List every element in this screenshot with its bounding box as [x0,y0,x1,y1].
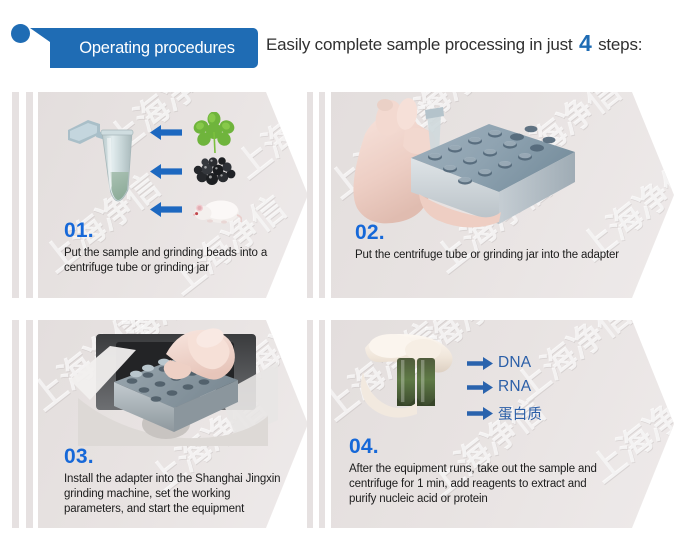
banner-body: Operating procedures [56,28,258,68]
right-arrow-icon [467,381,493,394]
tagline-step-count: 4 [577,30,594,56]
card-panel: 上海净信 上海净信 上海净信 上海净信 [38,320,308,528]
output-label: DNA [498,354,531,372]
step-card-02: 上海净信 上海净信 上海净信 上海净信 上海净信 [307,92,674,298]
right-arrow-icon [467,357,493,370]
output-label: RNA [498,378,531,396]
step-card-01: 上海净信 上海净信 上海净信 上海净信 [12,92,308,298]
card-accent-bars [12,92,38,298]
step-text-block: 03. Install the adapter into the Shangha… [64,446,290,518]
step-description: Put the sample and grinding beads into a… [64,246,288,276]
tagline-before: Easily complete sample processing in jus… [266,35,572,54]
grinding-beads-icon [192,155,238,187]
card-panel: 上海净信 上海净信 上海净信 上海净信 上海净信 [331,320,674,528]
hand-installing-adapter-in-machine-photo [70,328,278,446]
left-arrow-icon [150,125,182,140]
plant-leaf-icon [193,112,235,154]
step-text-block: 01. Put the sample and grinding beads in… [64,220,288,276]
output-row-protein: 蛋白质 [467,403,542,424]
accent-bar [319,320,325,528]
right-arrow-icon [467,407,493,420]
step-number: 02. [355,222,635,244]
bullet-dot-icon [11,24,30,43]
card-accent-bars [307,92,333,298]
accent-bar [26,92,33,298]
left-arrow-icon [150,164,182,179]
banner-label: Operating procedures [79,39,235,58]
step-description: After the equipment runs, take out the s… [349,462,599,508]
left-arrow-icon [150,202,182,217]
step-description: Put the centrifuge tube or grinding jar … [355,248,635,263]
accent-bar [307,320,313,528]
centrifuge-tube-icon [66,114,138,220]
page-tagline: Easily complete sample processing in jus… [266,30,642,57]
card-accent-bars [12,320,38,528]
accent-bar [319,92,325,298]
step-number: 01. [64,220,288,242]
card-panel: 上海净信 上海净信 上海净信 上海净信 [38,92,308,298]
step-text-block: 04. After the equipment runs, take out t… [349,436,599,508]
step-card-04: 上海净信 上海净信 上海净信 上海净信 上海净信 [307,320,674,528]
accent-bar [12,320,19,528]
accent-bar [26,320,33,528]
accent-bar [12,92,19,298]
step-text-block: 02. Put the centrifuge tube or grinding … [355,222,635,263]
gloved-hand-holding-tubes-photo [361,332,481,422]
hand-holding-adapter-block-photo [349,96,579,228]
output-row-dna: DNA [467,354,531,372]
operating-procedures-banner: Operating procedures [30,28,258,68]
accent-bar [307,92,313,298]
card-accent-bars [307,320,333,528]
tagline-after: steps: [598,35,642,54]
output-label: 蛋白质 [498,403,542,424]
step-description: Install the adapter into the Shanghai Ji… [64,472,290,518]
operating-procedures-infographic: Operating procedures Easily complete sam… [0,0,686,538]
step-card-03: 上海净信 上海净信 上海净信 上海净信 [12,320,308,528]
step-number: 03. [64,446,290,468]
output-row-rna: RNA [467,378,531,396]
card-panel: 上海净信 上海净信 上海净信 上海净信 上海净信 [331,92,674,298]
header: Operating procedures Easily complete sam… [0,0,686,80]
step-number: 04. [349,436,599,458]
